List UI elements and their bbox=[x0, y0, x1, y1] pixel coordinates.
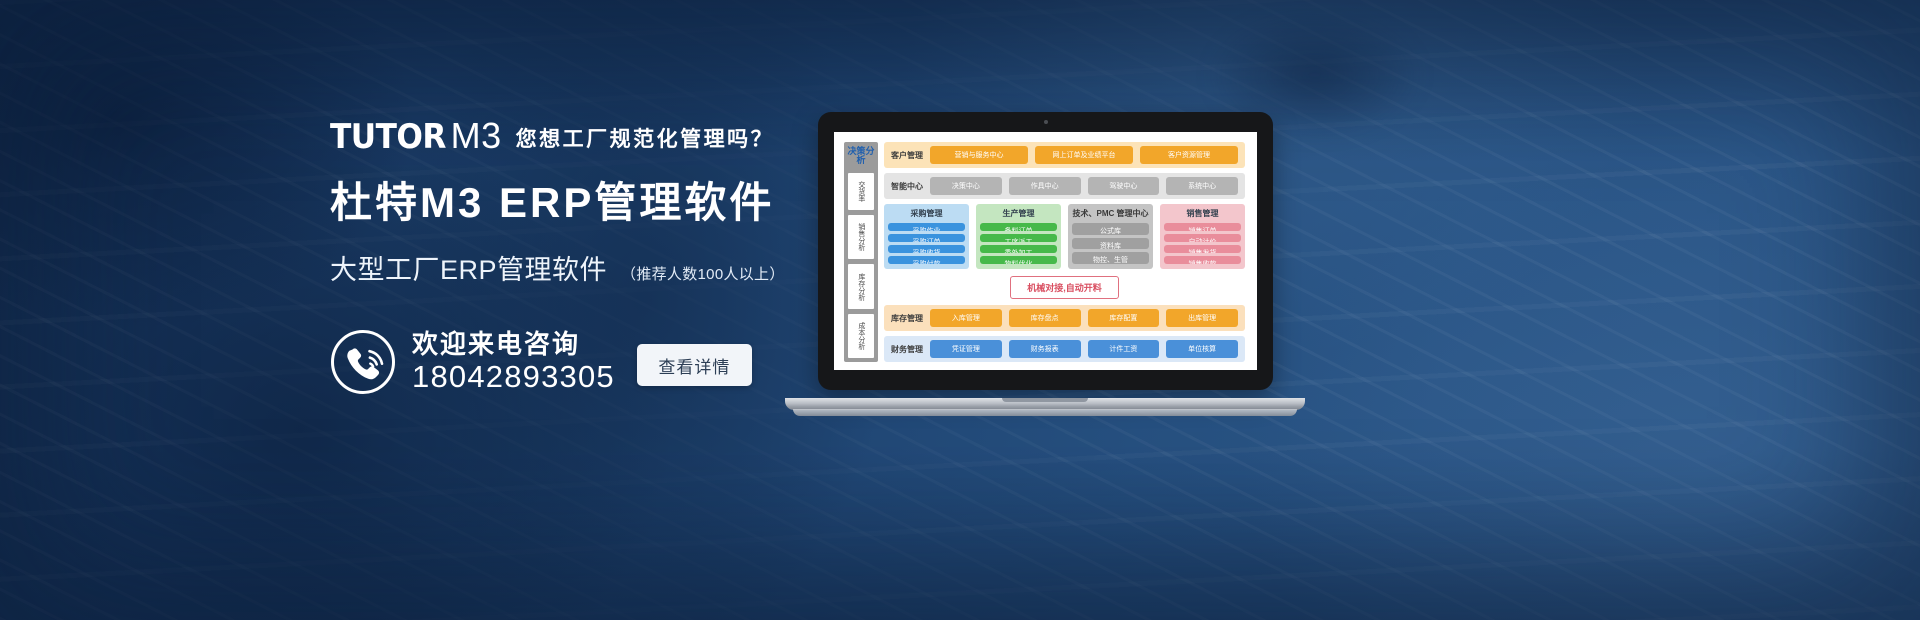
erp-chip-customer-0[interactable]: 营销与服务中心 bbox=[930, 146, 1028, 164]
contact-phone-number[interactable]: 18042893305 bbox=[412, 360, 615, 393]
erp-item-tech-2[interactable]: 物控、生管 bbox=[1072, 252, 1149, 264]
erp-architecture-diagram: 决策分析 交货率 销售分析 库存分析 成本分析 bbox=[834, 132, 1257, 370]
erp-sidebar-label-1: 销售分析 bbox=[857, 223, 865, 251]
erp-row-smart-label: 智能中心 bbox=[891, 181, 923, 192]
erp-highlight-note: 机械对接,自动开料 bbox=[1010, 276, 1119, 299]
laptop-screen: 决策分析 交货率 销售分析 库存分析 成本分析 bbox=[834, 132, 1257, 370]
view-details-button[interactable]: 查看详情 bbox=[637, 344, 752, 386]
contact-text: 欢迎来电咨询 18042893305 bbox=[412, 330, 615, 394]
erp-column-purchase-title: 采购管理 bbox=[888, 208, 965, 220]
erp-chip-finance-2[interactable]: 计件工资 bbox=[1088, 340, 1160, 358]
erp-module-columns: 采购管理 采购作业 采购订单 采购收货 采购付款 生产管理 备料订单 工序派工 … bbox=[884, 204, 1245, 269]
erp-sidebar-item-2[interactable]: 库存分析 bbox=[848, 264, 874, 308]
logo-m3-text: M3 bbox=[451, 118, 502, 154]
brand-tagline: 您想工厂规范化管理吗？ bbox=[516, 129, 775, 154]
erp-column-sales: 销售管理 销售订单 自动计价 销售发货 销售收款 bbox=[1160, 204, 1245, 269]
erp-item-sales-2[interactable]: 销售发货 bbox=[1164, 245, 1241, 253]
erp-item-purchase-1[interactable]: 采购订单 bbox=[888, 234, 965, 242]
erp-chip-inventory-3[interactable]: 出库管理 bbox=[1166, 309, 1238, 327]
erp-chip-inventory-1[interactable]: 库存盘点 bbox=[1009, 309, 1081, 327]
erp-chip-inventory-2[interactable]: 库存配置 bbox=[1088, 309, 1160, 327]
erp-sidebar-label-0: 交货率 bbox=[857, 181, 865, 202]
erp-item-tech-1[interactable]: 资料库 bbox=[1072, 238, 1149, 250]
erp-chip-smart-1[interactable]: 作具中心 bbox=[1009, 177, 1081, 195]
erp-item-tech-0[interactable]: 公式库 bbox=[1072, 223, 1149, 235]
erp-sidebar-item-3[interactable]: 成本分析 bbox=[848, 314, 874, 358]
brand-logo: TUTOR M3 bbox=[330, 118, 502, 154]
erp-column-production-title: 生产管理 bbox=[980, 208, 1057, 220]
webcam-dot-icon bbox=[1044, 120, 1048, 124]
erp-chip-customer-2[interactable]: 客户资源管理 bbox=[1140, 146, 1238, 164]
erp-highlight-row: 机械对接,自动开料 bbox=[884, 274, 1245, 300]
erp-chip-finance-0[interactable]: 凭证管理 bbox=[930, 340, 1002, 358]
erp-row-customer: 客户管理 营销与服务中心 网上订单及业绩平台 客户资源管理 bbox=[884, 142, 1245, 168]
erp-main-area: 客户管理 营销与服务中心 网上订单及业绩平台 客户资源管理 智能中心 决策中心 … bbox=[884, 142, 1245, 362]
erp-chip-smart-0[interactable]: 决策中心 bbox=[930, 177, 1002, 195]
erp-sidebar-item-0[interactable]: 交货率 bbox=[848, 173, 874, 210]
erp-row-finance-label: 财务管理 bbox=[891, 344, 923, 355]
erp-column-purchase: 采购管理 采购作业 采购订单 采购收货 采购付款 bbox=[884, 204, 969, 269]
erp-row-smart: 智能中心 决策中心 作具中心 驾驶中心 系统中心 bbox=[884, 173, 1245, 199]
erp-item-purchase-2[interactable]: 采购收货 bbox=[888, 245, 965, 253]
erp-chip-customer-1[interactable]: 网上订单及业绩平台 bbox=[1035, 146, 1133, 164]
erp-item-production-0[interactable]: 备料订单 bbox=[980, 223, 1057, 231]
erp-chip-inventory-0[interactable]: 入库管理 bbox=[930, 309, 1002, 327]
erp-row-finance: 财务管理 凭证管理 财务报表 计件工资 单位核算 bbox=[884, 336, 1245, 362]
subtitle-main: 大型工厂ERP管理软件 bbox=[330, 248, 607, 287]
erp-sidebar: 决策分析 交货率 销售分析 库存分析 成本分析 bbox=[844, 142, 878, 362]
erp-sidebar-label-2: 库存分析 bbox=[857, 273, 865, 301]
laptop-foot bbox=[793, 409, 1297, 416]
erp-column-tech-pmc: 技术、PMC 管理中心 公式库 资料库 物控、生管 bbox=[1068, 204, 1153, 269]
laptop-mockup: 决策分析 交货率 销售分析 库存分析 成本分析 bbox=[785, 112, 1305, 422]
erp-chip-finance-1[interactable]: 财务报表 bbox=[1009, 340, 1081, 358]
erp-row-customer-label: 客户管理 bbox=[891, 150, 923, 161]
laptop-lid: 决策分析 交货率 销售分析 库存分析 成本分析 bbox=[818, 112, 1273, 390]
erp-item-sales-0[interactable]: 销售订单 bbox=[1164, 223, 1241, 231]
erp-item-sales-3[interactable]: 销售收款 bbox=[1164, 256, 1241, 264]
subtitle-note: （推荐人数100人以上） bbox=[621, 263, 785, 284]
erp-chip-smart-3[interactable]: 系统中心 bbox=[1166, 177, 1238, 195]
erp-column-tech-pmc-title: 技术、PMC 管理中心 bbox=[1072, 208, 1149, 220]
erp-sidebar-heading: 决策分析 bbox=[847, 146, 875, 168]
erp-column-production: 生产管理 备料订单 工序派工 委外加工 物料优化 bbox=[976, 204, 1061, 269]
erp-item-sales-1[interactable]: 自动计价 bbox=[1164, 234, 1241, 242]
erp-item-production-3[interactable]: 物料优化 bbox=[980, 256, 1057, 264]
erp-item-purchase-3[interactable]: 采购付款 bbox=[888, 256, 965, 264]
erp-sidebar-label-3: 成本分析 bbox=[857, 322, 865, 350]
hero-banner: TUTOR M3 您想工厂规范化管理吗？ 杜特M3 ERP管理软件 大型工厂ER… bbox=[0, 0, 1920, 620]
erp-chip-finance-3[interactable]: 单位核算 bbox=[1166, 340, 1238, 358]
erp-item-production-2[interactable]: 委外加工 bbox=[980, 245, 1057, 253]
erp-column-sales-title: 销售管理 bbox=[1164, 208, 1241, 220]
erp-sidebar-item-1[interactable]: 销售分析 bbox=[848, 215, 874, 259]
erp-chip-smart-2[interactable]: 驾驶中心 bbox=[1088, 177, 1160, 195]
erp-item-purchase-0[interactable]: 采购作业 bbox=[888, 223, 965, 231]
erp-row-inventory: 库存管理 入库管理 库存盘点 库存配置 出库管理 bbox=[884, 305, 1245, 331]
erp-row-inventory-label: 库存管理 bbox=[891, 313, 923, 324]
logo-tutor-text: TUTOR bbox=[330, 120, 446, 154]
erp-item-production-1[interactable]: 工序派工 bbox=[980, 234, 1057, 242]
contact-title: 欢迎来电咨询 bbox=[412, 330, 615, 358]
phone-circle-icon bbox=[330, 329, 396, 395]
